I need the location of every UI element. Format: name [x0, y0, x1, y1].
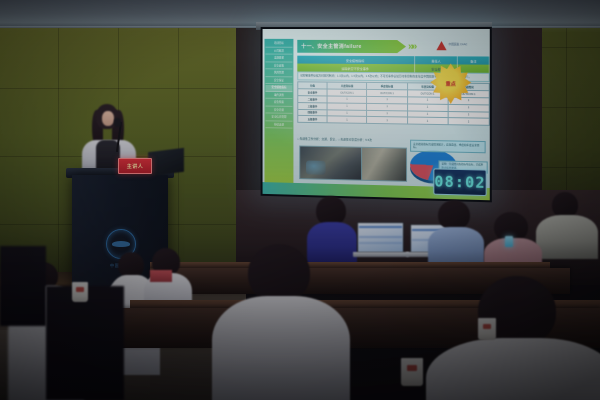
slide-title-band: 十一、安全主管消failure	[297, 40, 406, 53]
laptop-screen-bar	[359, 242, 402, 244]
person-shoulders	[307, 222, 357, 264]
phone-screen-glow	[505, 236, 513, 247]
slide-sidebar-nav: 培训目标 公司概况 法规要求 安全政策 风险管理 安全保证 安全绩效指标 事件调…	[264, 39, 293, 187]
slide-nav-item-3: 安全政策	[265, 63, 292, 70]
grid-cell: 1	[367, 117, 407, 124]
table-header-mid: 责任人	[415, 56, 458, 64]
triangle-logo-icon	[436, 41, 446, 50]
grid-row-label: 五级事件	[298, 116, 328, 123]
slide-nav-item-7: 事件调查	[265, 92, 292, 99]
laptop-screen-bar	[359, 226, 402, 228]
grid-cell: 1	[327, 116, 367, 123]
slide-photo-left	[299, 146, 362, 181]
foreground-dark-object	[0, 246, 46, 326]
cup-logo	[407, 365, 417, 371]
slide-logo: 中国民航 CAAC	[436, 38, 485, 52]
nameplate: 主讲人	[118, 158, 152, 174]
person-head	[248, 244, 310, 302]
laptop-screen	[358, 223, 403, 252]
person-head	[438, 200, 470, 230]
grid-cell: 1	[407, 117, 448, 124]
table-subheader-main: 运输航空不安全事件	[297, 64, 415, 73]
table-subheader-row: 运输航空不安全事件 安全部	[297, 64, 489, 73]
slide-nav-item-8: 应急预案	[265, 100, 292, 107]
cup-logo	[483, 324, 491, 329]
person-shoulders	[536, 215, 598, 259]
audience-laptop-1	[357, 222, 404, 254]
grid-cell: 1	[448, 118, 489, 126]
paper-cup-center	[401, 358, 423, 386]
table-subheader-end	[458, 65, 490, 74]
person-shoulders	[212, 296, 350, 400]
laptop-screen-bar	[359, 236, 402, 238]
slide-nav-item-1: 公司概况	[265, 48, 292, 54]
table-header-end: 备注	[458, 56, 490, 64]
foreground-dark-surface	[46, 286, 124, 400]
countdown-timer-value: 08:02	[434, 172, 485, 192]
presentation-slide: 培训目标 公司概况 法规要求 安全政策 风险管理 安全保证 安全绩效指标 事件调…	[263, 29, 490, 200]
slide-nav-item-6: 安全绩效指标	[265, 85, 292, 92]
slide-nav-item-11: 持续改进	[265, 122, 292, 129]
starburst-badge-text: 重点	[446, 80, 456, 87]
chevron-right-icon: »»	[408, 41, 415, 52]
cup-logo	[76, 287, 83, 291]
conference-hall-photo: 培训目标 公司概况 法规要求 安全政策 风险管理 安全保证 安全绩效指标 事件调…	[0, 0, 600, 400]
slide-nav-item-9: 安全培训	[265, 107, 292, 114]
slide-title: 十一、安全主管消failure	[301, 43, 361, 50]
slide-logo-text: 中国民航 CAAC	[449, 44, 468, 47]
slide-nav-item-5: 安全保证	[265, 78, 292, 85]
table-row: 五级事件 1 1 1 1	[298, 116, 489, 126]
nameplate-text: 主讲人	[127, 163, 144, 170]
microphone-icon	[114, 118, 121, 127]
countdown-timer: 08:02	[433, 168, 486, 196]
person-shoulders	[426, 338, 600, 400]
slide-nav-item-2: 法规要求	[265, 56, 292, 63]
slide-nav-item-0: 培训目标	[265, 41, 292, 47]
red-booklet	[150, 270, 172, 282]
audience-laptop-1-base	[353, 252, 409, 257]
slide-nav-item-4: 风险管理	[265, 70, 292, 77]
slide-photo-right	[361, 147, 407, 182]
slide-callout: 安全绩效指标完成情况统计，实现月度、季度和年度安全目标。	[410, 140, 486, 154]
slide-nav-item-10: 安全信息管理	[265, 114, 292, 121]
speaker-face	[102, 111, 114, 126]
projection-screen: 培训目标 公司概况 法规要求 安全政策 风险管理 安全保证 安全绩效指标 事件调…	[261, 27, 492, 202]
paper-cup-right	[478, 318, 496, 340]
podium-laptop	[148, 148, 184, 176]
paper-cup-left	[72, 282, 88, 302]
person-shoulders	[428, 227, 484, 267]
